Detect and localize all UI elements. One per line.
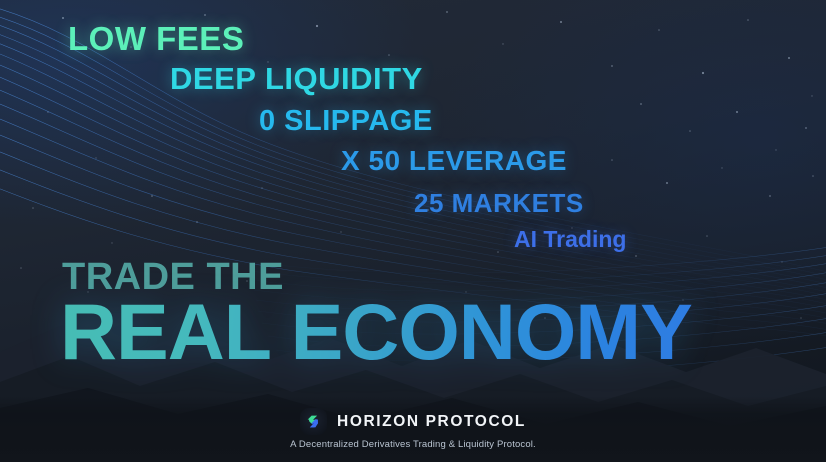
feature-list: LOW FEES DEEP LIQUIDITY 0 SLIPPAGE X 50 …: [0, 0, 826, 272]
feature-item-zero-slippage: 0 SLIPPAGE: [259, 107, 433, 136]
footer-brand-bar: HORIZON PROTOCOL A Decentralized Derivat…: [0, 396, 826, 462]
brand-row: HORIZON PROTOCOL: [300, 408, 526, 435]
feature-item-low-fees: LOW FEES: [68, 22, 244, 55]
feature-item-leverage: X 50 LEVERAGE: [341, 147, 567, 175]
horizon-logo-icon: [300, 408, 327, 435]
brand-wordmark: HORIZON PROTOCOL: [337, 413, 526, 431]
feature-item-markets: 25 MARKETS: [414, 190, 584, 216]
promo-banner: LOW FEES DEEP LIQUIDITY 0 SLIPPAGE X 50 …: [0, 0, 826, 462]
headline-main: REAL ECONOMY: [60, 292, 692, 371]
brand-tagline: A Decentralized Derivatives Trading & Li…: [290, 439, 536, 450]
feature-item-ai-trading: AI Trading: [514, 228, 626, 251]
feature-item-deep-liquidity: DEEP LIQUIDITY: [170, 63, 423, 94]
